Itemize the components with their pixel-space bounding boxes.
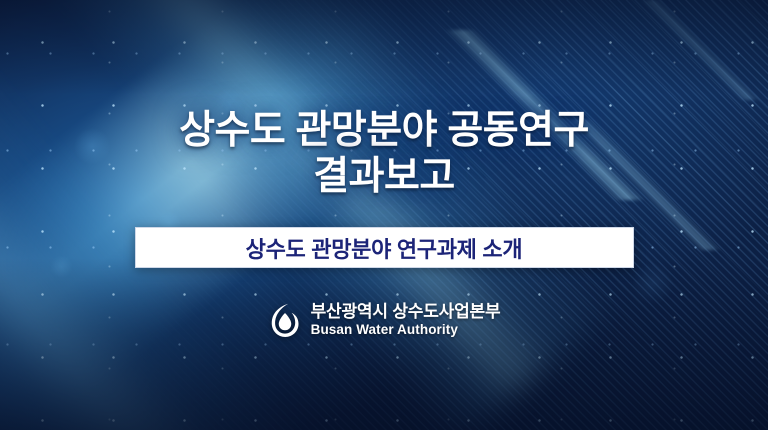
title-line-2: 결과보고 [179,154,589,200]
subtitle-text: 상수도 관망분야 연구과제 소개 [246,232,523,264]
slide-content: 상수도 관망분야 공동연구 결과보고 상수도 관망분야 연구과제 소개 부산광역… [0,0,768,430]
presentation-title-slide: 상수도 관망분야 공동연구 결과보고 상수도 관망분야 연구과제 소개 부산광역… [0,0,768,430]
page-title: 상수도 관망분야 공동연구 결과보고 [179,108,589,199]
title-line-1: 상수도 관망분야 공동연구 [179,108,589,154]
organization-name-english: Busan Water Authority [311,323,501,338]
organization-logo: 부산광역시 상수도사업본부 Busan Water Authority [268,302,501,338]
organization-name: 부산광역시 상수도사업본부 Busan Water Authority [311,303,501,337]
organization-name-korean: 부산광역시 상수도사업본부 [311,303,501,321]
subtitle-banner: 상수도 관망분야 연구과제 소개 [135,227,634,268]
water-drop-crescent-icon [268,302,301,338]
